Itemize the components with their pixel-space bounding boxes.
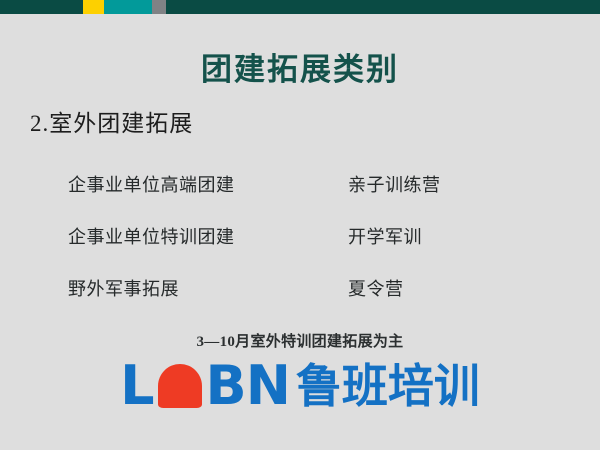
category-column-right: 亲子训练营 开学军训 夏令营 xyxy=(348,174,538,330)
list-item: 野外军事拓展 xyxy=(68,278,348,330)
season-note: 3—10月室外特训团建拓展为主 xyxy=(0,330,600,351)
list-item: 企事业单位高端团建 xyxy=(68,174,348,226)
category-column-left: 企事业单位高端团建 企事业单位特训团建 野外军事拓展 xyxy=(68,174,348,330)
category-columns: 企事业单位高端团建 企事业单位特训团建 野外军事拓展 亲子训练营 开学军训 夏令… xyxy=(68,174,538,330)
topbar-segment-gray xyxy=(152,0,166,14)
page-title: 团建拓展类别 xyxy=(0,44,600,89)
brand-logo: L BN 鲁班培训 xyxy=(0,362,600,410)
list-item: 亲子训练营 xyxy=(348,174,538,226)
top-decorative-bar xyxy=(0,0,600,14)
slide-body: 团建拓展类别 2.室外团建拓展 企事业单位高端团建 企事业单位特训团建 野外军事… xyxy=(0,14,600,450)
logo-chinese-name: 鲁班培训 xyxy=(296,362,480,410)
logo-mark: L BN 鲁班培训 xyxy=(120,362,480,410)
logo-letters-bn: BN xyxy=(206,362,290,410)
topbar-segment-dark-teal-right xyxy=(166,0,600,14)
red-sun-circle-icon xyxy=(158,364,202,408)
logo-letter-l: L xyxy=(120,362,153,410)
topbar-segment-yellow xyxy=(83,0,104,14)
list-item: 夏令营 xyxy=(348,278,538,330)
list-item: 企事业单位特训团建 xyxy=(68,226,348,278)
section-subtitle: 2.室外团建拓展 xyxy=(30,104,193,138)
list-item: 开学军训 xyxy=(348,226,538,278)
topbar-segment-dark-teal-left xyxy=(0,0,83,14)
topbar-segment-teal xyxy=(104,0,152,14)
